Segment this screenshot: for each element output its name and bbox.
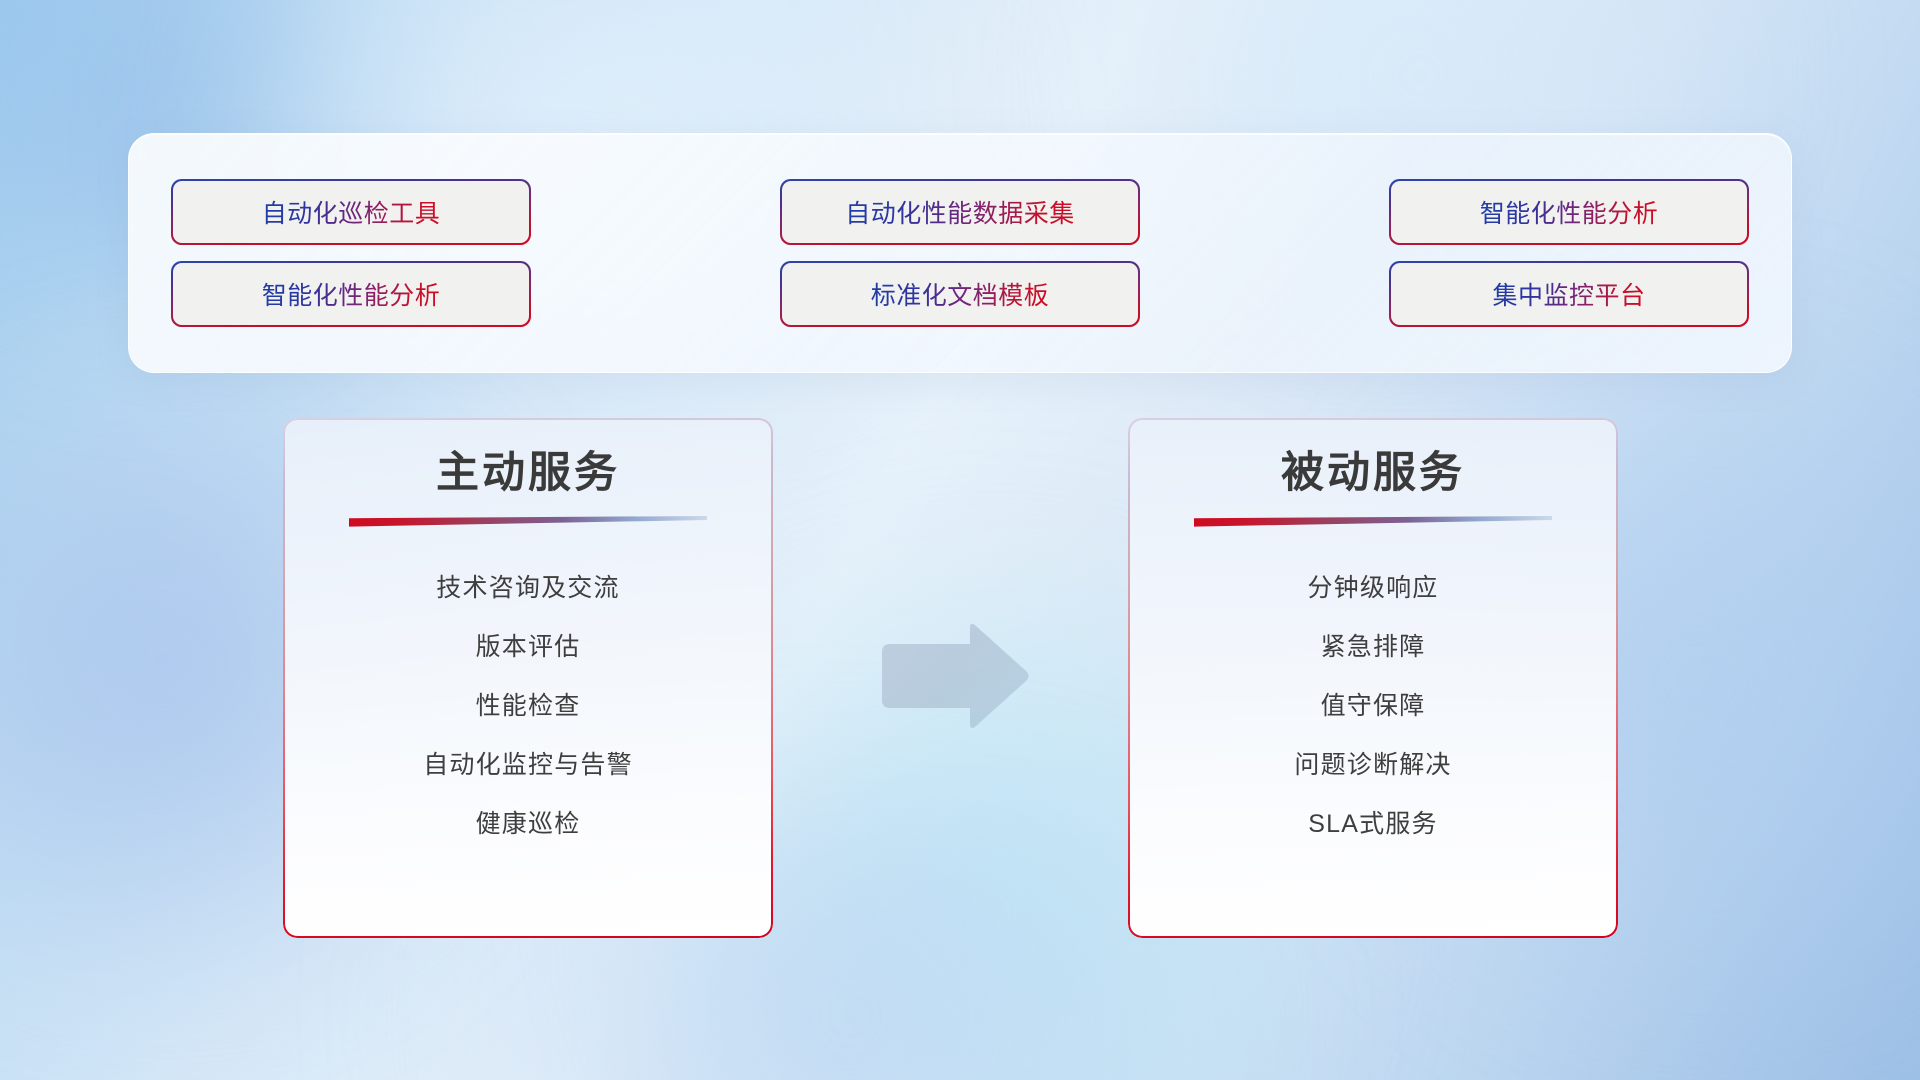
capability-tag-centralized-monitoring-platform[interactable]: 集中监控平台 bbox=[1391, 263, 1747, 325]
capability-tags-panel: 自动化巡检工具 自动化性能数据采集 智能化性能分析 智能化性能分析 标准化文档模… bbox=[128, 133, 1792, 373]
service-card-title: 被动服务 bbox=[1281, 450, 1465, 497]
capability-tag-row: 自动化巡检工具 自动化性能数据采集 智能化性能分析 bbox=[173, 181, 1747, 243]
list-item: 问题诊断解决 bbox=[1294, 736, 1451, 795]
service-card-list: 分钟级响应 紧急排障 值守保障 问题诊断解决 SLA式服务 bbox=[1128, 559, 1618, 854]
capability-tag-label: 自动化巡检工具 bbox=[262, 194, 441, 230]
service-card-active: 主动服务 技术咨询及交流 版本评估 性能检查 bbox=[283, 418, 773, 938]
capability-tag-automation-performance-data-collection[interactable]: 自动化性能数据采集 bbox=[782, 181, 1138, 243]
list-item: SLA式服务 bbox=[1308, 795, 1437, 854]
capability-tag-standard-document-template[interactable]: 标准化文档模板 bbox=[782, 263, 1138, 325]
service-card-title: 主动服务 bbox=[436, 450, 620, 497]
capability-tag-label: 标准化文档模板 bbox=[871, 276, 1050, 312]
capability-tag-label: 智能化性能分析 bbox=[262, 276, 441, 312]
capability-tag-label: 集中监控平台 bbox=[1492, 276, 1645, 312]
list-item: 版本评估 bbox=[476, 618, 581, 677]
capability-tag-row: 智能化性能分析 标准化文档模板 集中监控平台 bbox=[173, 263, 1747, 325]
list-item: 紧急排障 bbox=[1321, 618, 1426, 677]
title-divider bbox=[1194, 516, 1552, 529]
service-card-list: 技术咨询及交流 版本评估 性能检查 自动化监控与告警 健康巡检 bbox=[283, 559, 773, 854]
capability-tag-label: 智能化性能分析 bbox=[1480, 194, 1659, 230]
title-divider bbox=[349, 516, 707, 529]
list-item: 分钟级响应 bbox=[1307, 559, 1438, 618]
capability-tag-intelligent-performance-analysis-2[interactable]: 智能化性能分析 bbox=[173, 263, 529, 325]
service-card-passive: 被动服务 分钟级响应 紧急排障 值守保障 bbox=[1128, 418, 1618, 938]
service-card-body: 主动服务 技术咨询及交流 版本评估 性能检查 bbox=[283, 418, 773, 938]
list-item: 值守保障 bbox=[1321, 677, 1426, 736]
capability-tag-label: 自动化性能数据采集 bbox=[845, 194, 1075, 230]
capability-tag-automation-inspection-tool[interactable]: 自动化巡检工具 bbox=[173, 181, 529, 243]
service-card-body: 被动服务 分钟级响应 紧急排障 值守保障 bbox=[1128, 418, 1618, 938]
list-item: 自动化监控与告警 bbox=[423, 736, 633, 795]
list-item: 技术咨询及交流 bbox=[436, 559, 619, 618]
list-item: 健康巡检 bbox=[476, 795, 581, 854]
list-item: 性能检查 bbox=[476, 677, 581, 736]
capability-tag-intelligent-performance-analysis[interactable]: 智能化性能分析 bbox=[1391, 181, 1747, 243]
flow-arrow-right-icon bbox=[874, 622, 1034, 732]
